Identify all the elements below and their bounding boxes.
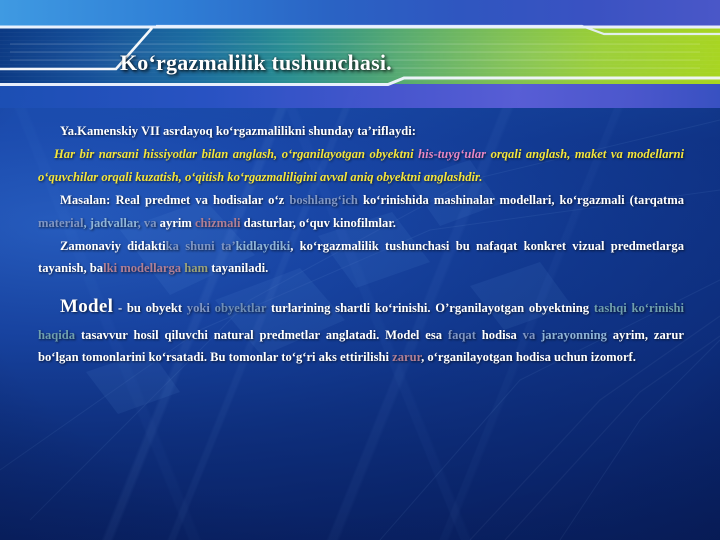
model-segment-11: jarayonning	[535, 328, 607, 342]
model-segment-dim-1: yoki	[187, 301, 210, 315]
paragraph-quote: Har bir narsani hissiyotlar bilan anglas…	[38, 143, 684, 188]
example-segment-7: ayrim	[160, 216, 195, 230]
example-segment-dim-3: , va	[138, 216, 160, 230]
quote-segment-highlight: his-tuyg‘ular	[418, 147, 486, 161]
paragraph-intro-text: Ya.Kamenskiy VII asrdayoq ko‘rgazmalilik…	[60, 124, 416, 138]
didactics-segment-olive: ham	[181, 261, 208, 275]
model-segment-9: hodisa	[476, 328, 523, 342]
model-keyword: Model	[60, 296, 113, 317]
didactics-segment-rose: lki modellarga	[103, 261, 181, 275]
paragraph-intro: Ya.Kamenskiy VII asrdayoq ko‘rgazmalilik…	[38, 120, 684, 142]
slide-body: Ya.Kamenskiy VII asrdayoq ko‘rgazmalilik…	[38, 120, 684, 369]
example-segment-9: dasturlar, o‘quv kinofilmlar.	[240, 216, 395, 230]
example-segment-rose: chizmali	[195, 216, 240, 230]
model-segment-7: tasavvur hosil qiluvchi natural predmetl…	[75, 328, 448, 342]
didactics-segment-dim-1: ka shuni ta’	[166, 239, 236, 253]
model-segment-dim-2: obyektlar	[215, 301, 267, 315]
example-segment-dim-1: boshlang‘ich	[289, 193, 358, 207]
didactics-segment-3: kidlaydiki	[236, 239, 291, 253]
model-segment-1: - bu obyekt	[113, 301, 187, 315]
example-segment-5: , jadvallar	[83, 216, 137, 230]
model-segment-dim-3: faqat	[448, 328, 476, 342]
didactics-segment-1: Zamonaviy didakti	[60, 239, 166, 253]
didactics-segment-7: tayaniladi.	[208, 261, 268, 275]
paragraph-model: Model - bu obyekt yoki obyektlar turlari…	[38, 290, 684, 369]
example-segment-3: ko‘rinishida mashinalar modellari, ko‘rg…	[358, 193, 684, 207]
model-segment-dim-4: va	[523, 328, 536, 342]
paragraph-example: Masalan: Real predmet va hodisalar o‘z b…	[38, 189, 684, 234]
example-segment-1: Masalan: Real predmet va hodisalar o‘z	[60, 193, 289, 207]
paragraph-didactics: Zamonaviy didaktika shuni ta’kidlaydiki,…	[38, 235, 684, 280]
model-segment-5: turlarining shartli ko‘rinishi. O’rganil…	[266, 301, 594, 315]
page-title: Ko‘rgazmalilik tushunchasi.	[120, 50, 680, 76]
slide-header-banner: Ko‘rgazmalilik tushunchasi.	[0, 0, 720, 108]
example-segment-dim-2: material	[38, 216, 83, 230]
model-segment-14: , o‘rganilayotgan hodisa uchun izomorf.	[421, 350, 636, 364]
quote-segment-1: Har bir narsani hissiyotlar bilan anglas…	[54, 147, 418, 161]
model-segment-rose: zarur	[392, 350, 421, 364]
presentation-slide: Ko‘rgazmalilik tushunchasi. Ya.Kamenskiy…	[0, 0, 720, 540]
